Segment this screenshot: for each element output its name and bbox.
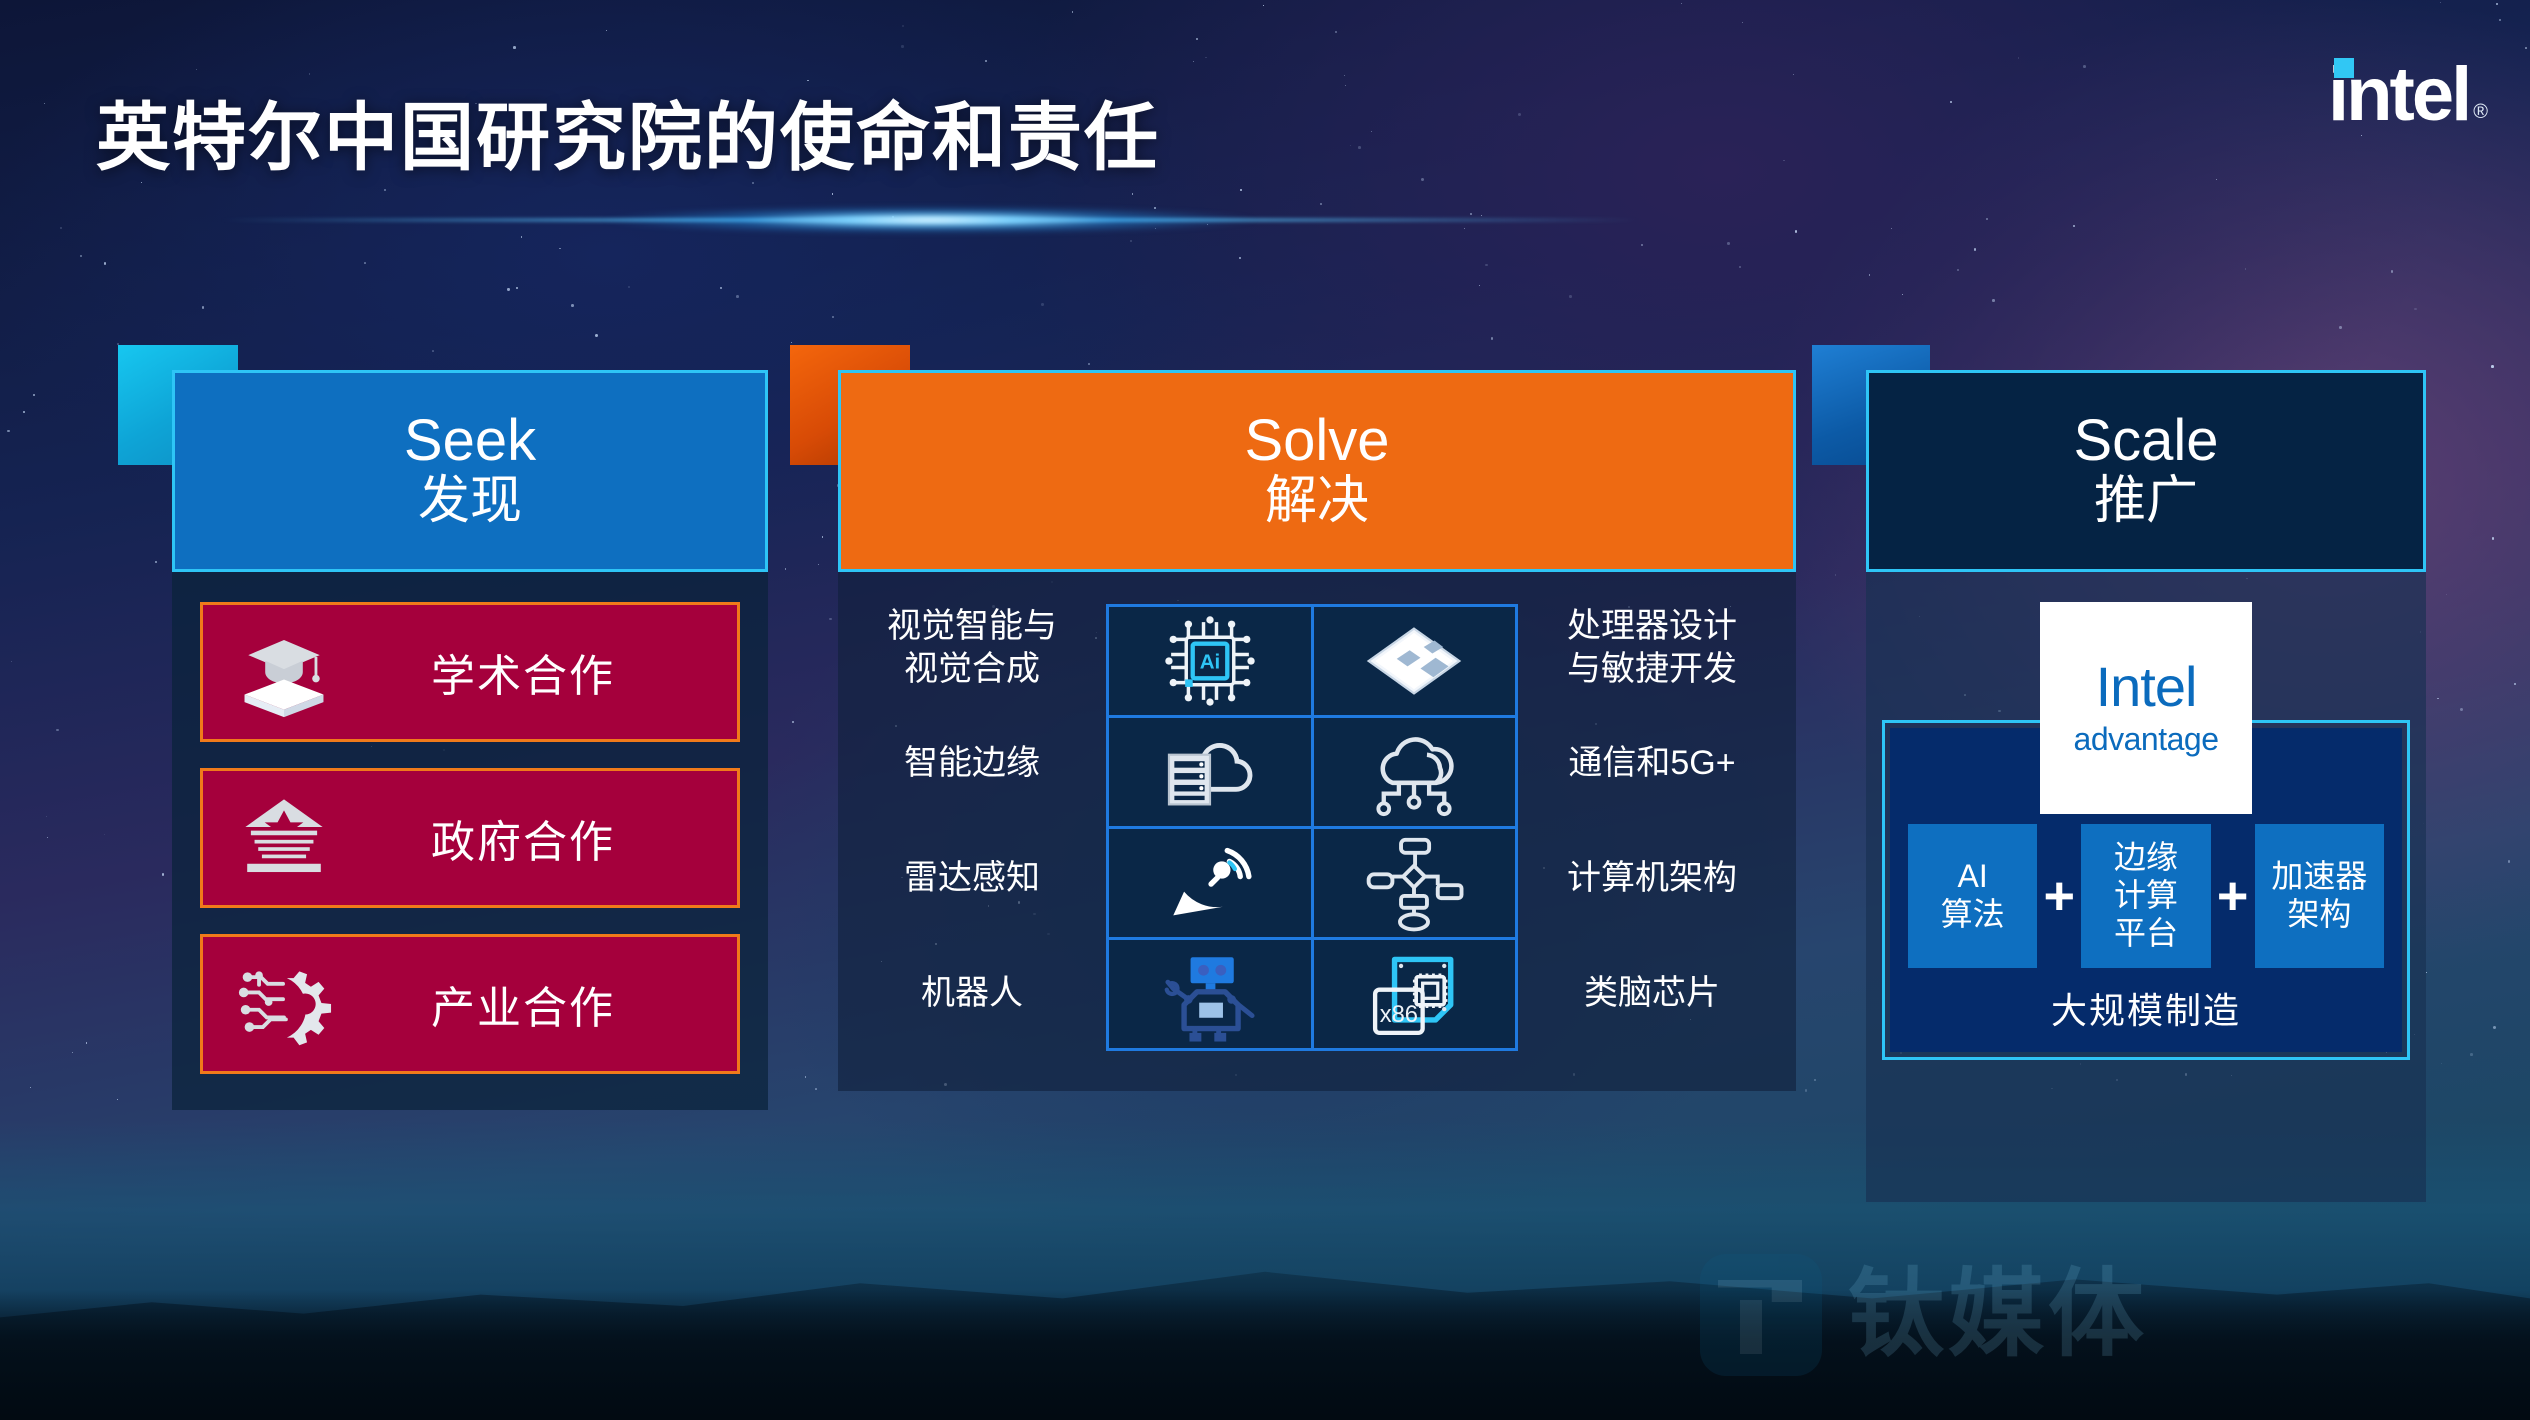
column-seek: Seek 发现 学术合作 (172, 370, 768, 1110)
solve-left-label: 雷达感知 (838, 821, 1106, 936)
satellite-dish-icon[interactable] (1109, 829, 1311, 937)
intel-advantage-bottom: advantage (2074, 721, 2219, 758)
solve-title-zh: 解决 (1265, 472, 1369, 531)
scale-body: Intel advantage AI算法 + 边缘计算平台 + 加速器架构 大规… (1866, 572, 2426, 1202)
seek-card-industry[interactable]: 产业合作 (200, 934, 740, 1074)
graduation-cap-book-icon (225, 617, 343, 727)
seek-title-zh: 发现 (418, 472, 522, 531)
page-title: 英特尔中国研究院的使命和责任 (96, 78, 1160, 185)
watermark: 钛媒体 (1700, 1240, 2440, 1390)
solve-right-label: 计算机架构 (1518, 821, 1786, 936)
svg-text:x86: x86 (1380, 1001, 1418, 1028)
x86-chip-icon[interactable]: x86 (1314, 940, 1516, 1048)
scale-pill-row: AI算法 + 边缘计算平台 + 加速器架构 (1908, 824, 2384, 968)
seek-card-government[interactable]: 政府合作 (200, 768, 740, 908)
intel-logo: intel ® (2328, 60, 2488, 130)
scale-pill-accelerator[interactable]: 加速器架构 (2255, 824, 2384, 968)
circuit-gear-icon (225, 949, 343, 1059)
watermark-logo-icon (1700, 1254, 1822, 1376)
seek-card-label: 政府合作 (343, 806, 737, 870)
scale-title-zh: 推广 (2094, 472, 2198, 531)
cloud-network-icon[interactable] (1314, 718, 1516, 826)
plus-icon: + (2211, 824, 2255, 968)
seek-title-en: Seek (404, 411, 536, 470)
ai-chip-icon[interactable]: Ai (1109, 607, 1311, 715)
scale-pill-ai[interactable]: AI算法 (1908, 824, 2037, 968)
solve-body: 视觉智能与视觉合成 智能边缘 雷达感知 机器人 (838, 572, 1796, 1091)
solve-right-label: 通信和5G+ (1518, 705, 1786, 820)
robot-icon[interactable] (1109, 940, 1311, 1048)
watermark-text: 钛媒体 (1848, 1267, 2148, 1363)
solve-left-label: 智能边缘 (838, 705, 1106, 820)
government-building-icon (225, 783, 343, 893)
seek-card-label: 学术合作 (343, 640, 737, 704)
solve-right-labels: 处理器设计与敏捷开发 通信和5G+ 计算机架构 类脑芯片 (1518, 590, 1786, 1051)
solve-right-label: 处理器设计与敏捷开发 (1518, 590, 1786, 705)
seek-card-label: 产业合作 (343, 972, 737, 1036)
silicon-die-icon[interactable] (1314, 607, 1516, 715)
seek-card-academic[interactable]: 学术合作 (200, 602, 740, 742)
column-scale: Scale 推广 Intel advantage AI算法 + 边缘计算平台 +… (1866, 370, 2426, 1202)
intel-logo-registered-mark: ® (2473, 101, 2488, 124)
solve-right-label: 类脑芯片 (1518, 936, 1786, 1051)
seek-header: Seek 发现 (172, 370, 768, 572)
plus-icon: + (2037, 824, 2081, 968)
server-cloud-icon[interactable] (1109, 718, 1311, 826)
solve-title-en: Solve (1244, 411, 1389, 470)
seek-body: 学术合作 政府合作 (172, 572, 768, 1110)
scale-footer-label: 大规模制造 (1908, 982, 2384, 1034)
scale-pill-edge[interactable]: 边缘计算平台 (2081, 824, 2210, 968)
intel-advantage-top: Intel (2096, 659, 2197, 715)
column-solve: Solve 解决 视觉智能与视觉合成 智能边缘 雷达感知 机器人 (838, 370, 1796, 1091)
title-glow-core (600, 206, 1260, 234)
solve-icon-grid: Ai (1106, 604, 1518, 1051)
scale-title-en: Scale (2073, 411, 2218, 470)
intel-logo-dot-icon (2334, 58, 2354, 78)
intel-advantage-badge: Intel advantage (2040, 602, 2252, 814)
solve-left-label: 机器人 (838, 936, 1106, 1051)
svg-text:Ai: Ai (1199, 651, 1220, 674)
architecture-flow-icon[interactable] (1314, 829, 1516, 937)
intel-logo-wordmark: intel (2328, 60, 2469, 130)
scale-header: Scale 推广 (1866, 370, 2426, 572)
solve-left-labels: 视觉智能与视觉合成 智能边缘 雷达感知 机器人 (838, 590, 1106, 1051)
solve-left-label: 视觉智能与视觉合成 (838, 590, 1106, 705)
solve-header: Solve 解决 (838, 370, 1796, 572)
